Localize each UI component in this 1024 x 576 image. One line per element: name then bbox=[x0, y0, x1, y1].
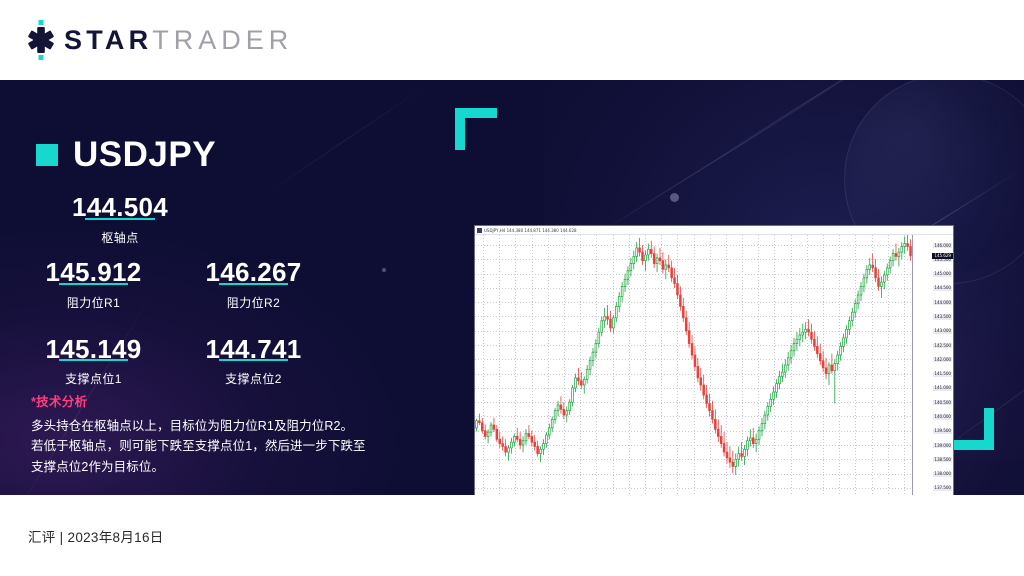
price-axis-tick: 141.000 bbox=[933, 386, 952, 391]
chart-symbol-icon bbox=[477, 228, 482, 233]
price-axis-tick: 138.000 bbox=[933, 472, 952, 477]
brand-secondary: TRADER bbox=[152, 27, 293, 54]
page-footer: 汇评 | 2023年8月16日 bbox=[0, 495, 1024, 576]
resistance-1-value: 145.912 bbox=[45, 258, 141, 287]
pivot-point-label: 枢轴点 bbox=[0, 229, 240, 246]
brand-wordmark: STARTRADER bbox=[64, 27, 293, 54]
corner-bracket-top-left bbox=[455, 108, 497, 150]
trading-chart-window[interactable]: USDJPY,H4 144.380 144.871 144.380 144.62… bbox=[474, 225, 954, 495]
technical-analysis-title: *技术分析 bbox=[31, 391, 411, 410]
price-axis-tick: 137.500 bbox=[933, 486, 952, 491]
support-1-value: 145.149 bbox=[45, 335, 141, 364]
resistance-row: 145.912 阻力位R1 146.267 阻力位R2 bbox=[0, 258, 430, 311]
resistance-2-label: 阻力位R2 bbox=[186, 294, 321, 311]
asterisk-star-icon bbox=[24, 20, 58, 60]
price-axis-tick: 145.000 bbox=[933, 272, 952, 277]
chart-price-axis[interactable]: 146.000145.500145.000144.500144.000143.5… bbox=[912, 235, 953, 495]
support-1-label: 支撑点位1 bbox=[26, 370, 161, 387]
price-axis-tick: 139.000 bbox=[933, 443, 952, 448]
price-axis-tick: 143.500 bbox=[933, 314, 952, 319]
current-price-badge: 145.629 bbox=[932, 253, 953, 260]
technical-analysis-line-1: 多头持仓在枢轴点以上，目标位为阻力位R1及阻力位R2。 bbox=[31, 416, 411, 436]
technical-analysis-block: *技术分析 多头持仓在枢轴点以上，目标位为阻力位R1及阻力位R2。 若低于枢轴点… bbox=[31, 391, 411, 477]
symbol-accent-square bbox=[36, 144, 58, 166]
price-axis-tick: 140.000 bbox=[933, 414, 952, 419]
chart-plot-area[interactable] bbox=[475, 235, 912, 495]
chart-title-text: USDJPY,H4 144.380 144.871 144.380 144.62… bbox=[484, 228, 577, 233]
page-header: STARTRADER bbox=[0, 0, 1024, 80]
brand-logo[interactable]: STARTRADER bbox=[24, 20, 293, 60]
poster-root: STARTRADER USDJPY 144.504 枢轴点 bbox=[0, 0, 1024, 576]
main-dark-panel: USDJPY 144.504 枢轴点 145.912 阻力位R1 146.267… bbox=[0, 80, 1024, 495]
corner-bracket-bottom-right bbox=[952, 408, 994, 450]
candlestick-series bbox=[475, 235, 912, 495]
left-info-panel: USDJPY 144.504 枢轴点 145.912 阻力位R1 146.267… bbox=[0, 80, 430, 495]
price-axis-tick: 144.000 bbox=[933, 300, 952, 305]
price-axis-tick: 144.500 bbox=[933, 286, 952, 291]
price-axis-tick: 141.500 bbox=[933, 372, 952, 377]
price-axis-tick: 142.500 bbox=[933, 343, 952, 348]
pivot-point-value: 144.504 bbox=[72, 193, 168, 222]
support-2-label: 支撑点位2 bbox=[186, 370, 321, 387]
price-axis-tick: 146.000 bbox=[933, 243, 952, 248]
support-2-block: 144.741 支撑点位2 bbox=[186, 335, 321, 388]
support-row: 145.149 支撑点位1 144.741 支撑点位2 bbox=[0, 335, 430, 388]
resistance-1-block: 145.912 阻力位R1 bbox=[26, 258, 161, 311]
technical-analysis-line-3: 支撑点位2作为目标位。 bbox=[31, 457, 411, 477]
brand-primary: STAR bbox=[64, 27, 152, 54]
price-axis-tick: 140.500 bbox=[933, 400, 952, 405]
price-axis-tick: 142.000 bbox=[933, 357, 952, 362]
chart-titlebar: USDJPY,H4 144.380 144.871 144.380 144.62… bbox=[475, 226, 953, 235]
price-axis-tick: 143.000 bbox=[933, 329, 952, 334]
technical-analysis-title-text: 技术分析 bbox=[36, 395, 87, 409]
support-2-value: 144.741 bbox=[205, 335, 301, 364]
technical-analysis-line-2: 若低于枢轴点，则可能下跌至支撑点位1，然后进一步下跌至 bbox=[31, 436, 411, 456]
technical-analysis-body: 多头持仓在枢轴点以上，目标位为阻力位R1及阻力位R2。 若低于枢轴点，则可能下跌… bbox=[31, 416, 411, 477]
footer-text: 汇评 | 2023年8月16日 bbox=[28, 526, 164, 546]
symbol-heading: USDJPY bbox=[36, 137, 216, 172]
pivot-point-block: 144.504 枢轴点 bbox=[0, 193, 240, 246]
resistance-2-block: 146.267 阻力位R2 bbox=[186, 258, 321, 311]
price-axis-tick: 139.500 bbox=[933, 429, 952, 434]
support-1-block: 145.149 支撑点位1 bbox=[26, 335, 161, 388]
resistance-2-value: 146.267 bbox=[205, 258, 301, 287]
pivot-levels-grid: 145.912 阻力位R1 146.267 阻力位R2 145.149 支撑点位… bbox=[0, 258, 430, 411]
resistance-1-label: 阻力位R1 bbox=[26, 294, 161, 311]
chart-zone: USDJPY,H4 144.380 144.871 144.380 144.62… bbox=[440, 108, 1010, 478]
page-title: USDJPY bbox=[73, 137, 216, 172]
price-axis-tick: 138.500 bbox=[933, 457, 952, 462]
